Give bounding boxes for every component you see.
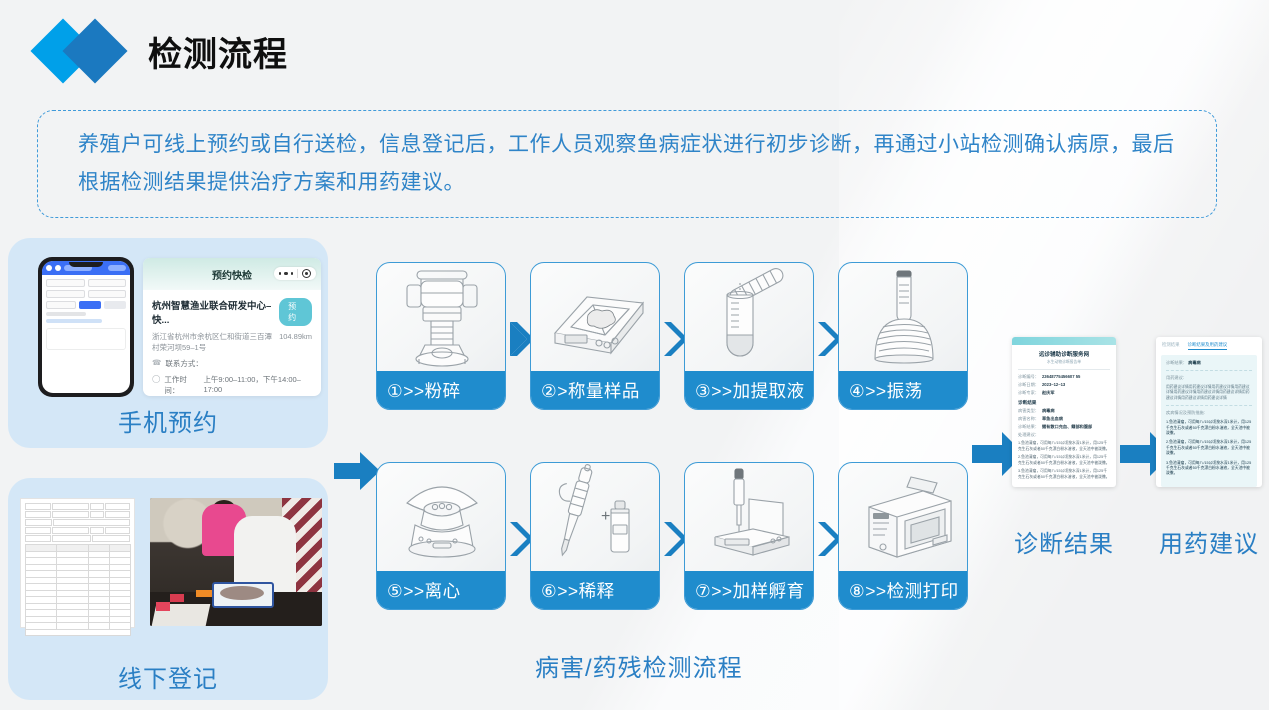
app-logo-icon — [55, 265, 61, 271]
diamond-logo-icon — [38, 18, 132, 84]
form-input-1[interactable] — [88, 290, 127, 298]
phone-icon: ☎ — [152, 358, 161, 367]
phone-notch — [69, 262, 103, 267]
more-dot-1 — [279, 272, 282, 275]
contact-label: 联系方式： — [165, 358, 203, 369]
fish-sample — [220, 586, 264, 600]
navbar-actions-placeholder — [108, 265, 126, 271]
tab-diagnosis-and-advice[interactable]: 诊断结果及用药建议 — [1188, 342, 1228, 350]
description-box: 养殖户可线上预约或自行送检，信息登记后，工作人员观察鱼病症状进行初步诊断，再通过… — [37, 110, 1217, 218]
process-step-2-label: ②>称量样品 — [531, 371, 659, 409]
advice-label: 用药建议: — [1166, 375, 1252, 381]
prevention-paragraph-2: 2.鱼池清瘤，可用每八/15公顷按水深1米计，用125千克生石灰或者50千克漂白… — [1166, 440, 1252, 456]
description-text: 养殖户可线上预约或自行送检，信息登记后，工作人员观察鱼病症状进行初步诊断，再通过… — [78, 126, 1176, 202]
intake-panel-1-caption: 手机预约 — [8, 403, 328, 438]
process-step-8-label: ⑧>>检测打印 — [839, 571, 967, 609]
advice-result-row: 诊断结果： 病毒病 — [1166, 360, 1252, 366]
process-flow-caption: 病害/药残检测流程 — [535, 648, 743, 683]
medication-advice-card: 检测结果 诊断结果及用药建议 诊断结果： 病毒病 用药建议: 用药建议详情用药建… — [1156, 337, 1262, 487]
process-step-4-label: ④>>振荡 — [839, 371, 967, 409]
form-select-1[interactable] — [46, 279, 85, 287]
report-row-type: 病害类型：病毒病 — [1018, 408, 1110, 414]
tab-detection-result[interactable]: 检测结果 — [1162, 342, 1180, 350]
process-step-5[interactable]: ⑤>>离心 — [376, 462, 506, 610]
station-address: 104.89km 浙江省杭州市余杭区仁和街道三百潭村荣河坝59–1号 — [152, 331, 312, 353]
book-button[interactable]: 预约 — [279, 298, 312, 326]
back-icon — [46, 265, 52, 271]
pipette-bottle-icon: + — [531, 463, 659, 573]
process-step-6[interactable]: + ⑥>>稀释 — [530, 462, 660, 610]
report-field-expert: 诊断专家：赵庆军 — [1018, 390, 1110, 396]
report-field-date: 诊断日期：2023–12–13 — [1018, 382, 1110, 388]
report-paragraph-2: 2.鱼池清瘤，可用每八/15公顷按水深1米计，用125千克生石灰或者50千克漂白… — [1018, 455, 1110, 466]
report-row-result: 诊断结果：鳃有散口充血、鳍部和腹部 — [1018, 424, 1110, 430]
hours-value: 上午9:00–11:00，下午14:00–17:00 — [203, 374, 312, 394]
prevention-label: 疾病情况及预防措施: — [1166, 410, 1252, 416]
registration-form-document — [20, 498, 135, 628]
report-title: 远诊辅助诊断服务网 — [1012, 350, 1116, 358]
more-dot-2 — [284, 272, 288, 276]
test-tube-icon — [685, 263, 813, 373]
process-step-8[interactable]: ⑧>>检测打印 — [838, 462, 968, 610]
process-step-7-label: ⑦>>加样孵育 — [685, 571, 813, 609]
clock-icon: ◯ — [152, 374, 160, 383]
appointment-card-appbar: 预约快检 — [143, 258, 321, 290]
page-header: 检测流程 — [38, 18, 288, 84]
hours-label: 工作时间： — [164, 374, 199, 396]
report-paragraph-3: 3.鱼池清瘤，可用每八/15公顷按水深1米计，用125千克生石灰或者50千克漂白… — [1018, 469, 1110, 480]
table-row-line — [46, 319, 102, 323]
incubator-icon — [685, 463, 813, 573]
process-step-5-label: ⑤>>离心 — [377, 571, 505, 609]
prevention-paragraph-1: 1.鱼池清瘤，可用每八/15公顷按水深1米计，用125千克生石灰或者50千克漂白… — [1166, 420, 1252, 436]
hours-row: ◯ 工作时间： 上午9:00–11:00，下午14:00–17:00 — [152, 374, 312, 396]
slide-root: 检测流程 养殖户可线上预约或自行送检，信息登记后，工作人员观察鱼病症状进行初步诊… — [0, 0, 1269, 710]
more-dot-3 — [291, 272, 294, 275]
process-step-3[interactable]: ③>>加提取液 — [684, 262, 814, 410]
miniprogram-capsule[interactable] — [274, 267, 317, 280]
station-distance: 104.89km — [279, 331, 312, 342]
advice-card-tabs: 检测结果 诊断结果及用药建议 — [1156, 337, 1262, 353]
arrow-intake-to-process — [334, 452, 380, 490]
report-row-advice: 处理建议： — [1018, 432, 1110, 438]
vortex-mixer-icon — [839, 263, 967, 373]
scale-icon — [531, 263, 659, 373]
table-header-line — [46, 312, 86, 316]
close-circle-icon[interactable] — [302, 269, 311, 278]
centrifuge-icon — [377, 463, 505, 573]
card-top-accent — [1012, 337, 1116, 345]
intake-panel-offline-registration: 线下登记 — [8, 478, 328, 700]
report-paragraph-1: 1.鱼池清瘤，可用每八/15公顷按水深1米计，用125千克生石灰或者50千克漂白… — [1018, 441, 1110, 452]
form-reset-button[interactable] — [104, 301, 126, 309]
process-step-6-label: ⑥>>稀释 — [531, 571, 659, 609]
report-section-title: 诊断结果 — [1018, 400, 1110, 406]
advice-divider-2 — [1166, 405, 1252, 406]
page-title: 检测流程 — [148, 27, 288, 76]
process-step-2[interactable]: ②>称量样品 — [530, 262, 660, 410]
report-row-name: 病害名称：草鱼出血病 — [1018, 416, 1110, 422]
medication-advice-caption: 用药建议 — [1152, 524, 1266, 559]
form-search-button[interactable] — [79, 301, 101, 309]
phone-form-body — [42, 275, 130, 354]
form-input-2[interactable] — [46, 301, 76, 309]
form-select-2[interactable] — [88, 279, 127, 287]
offline-registration-photo — [150, 498, 322, 626]
form-select-3[interactable] — [46, 290, 85, 298]
phone-mockup — [38, 257, 134, 397]
process-step-7[interactable]: ⑦>>加样孵育 — [684, 462, 814, 610]
prevention-paragraph-3: 3.鱼池清瘤，可用每八/15公顷按水深1米计，用125千克生石灰或者50千克漂白… — [1166, 461, 1252, 477]
contact-row: ☎ 联系方式： — [152, 358, 312, 369]
diagnosis-result-caption: 诊断结果 — [1012, 524, 1116, 559]
station-name: 杭州智慧渔业联合研发中心–快... — [152, 298, 279, 326]
process-step-1-label: ①>>粉碎 — [377, 371, 505, 409]
intake-panel-mobile-booking: 预约快检 杭州智慧渔业联合研发中心–快... 预约 104.89km 浙江省杭州… — [8, 238, 328, 448]
report-subtitle: 水生动物诊断报告单 — [1012, 360, 1116, 365]
report-field-id: 诊断编号：23648775456607 55 — [1018, 374, 1110, 380]
red-box-2 — [156, 602, 170, 611]
process-step-1[interactable]: ①>>粉碎 — [376, 262, 506, 410]
grinder-icon — [377, 263, 505, 373]
reader-printer-icon — [839, 463, 967, 573]
appointment-card-title: 预约快检 — [212, 267, 252, 282]
advice-divider-1 — [1166, 370, 1252, 371]
red-box-1 — [170, 594, 184, 602]
advice-text: 用药建议详情用药建议详情用药建议详情用药建议详情用药建议详情用药建议详情用药建议… — [1166, 385, 1252, 401]
process-step-4[interactable]: ④>>振荡 — [838, 262, 968, 410]
intake-panel-2-caption: 线下登记 — [8, 659, 328, 694]
registration-table — [25, 544, 130, 635]
station-address-text: 浙江省杭州市余杭区仁和街道三百潭村荣河坝59–1号 — [152, 332, 272, 352]
diagnosis-result-card: 远诊辅助诊断服务网 水生动物诊断报告单 诊断编号：23648775456607 … — [1012, 337, 1116, 487]
process-step-3-label: ③>>加提取液 — [685, 371, 813, 409]
result-card-placeholder[interactable] — [46, 328, 126, 350]
svg-text:+: + — [601, 508, 610, 525]
advice-card-panel: 诊断结果： 病毒病 用药建议: 用药建议详情用药建议详情用药建议详情用药建议详情… — [1161, 355, 1257, 487]
appointment-card: 预约快检 杭州智慧渔业联合研发中心–快... 预约 104.89km 浙江省杭州… — [143, 258, 321, 396]
capsule-divider — [297, 269, 298, 278]
report-divider — [1018, 369, 1110, 370]
